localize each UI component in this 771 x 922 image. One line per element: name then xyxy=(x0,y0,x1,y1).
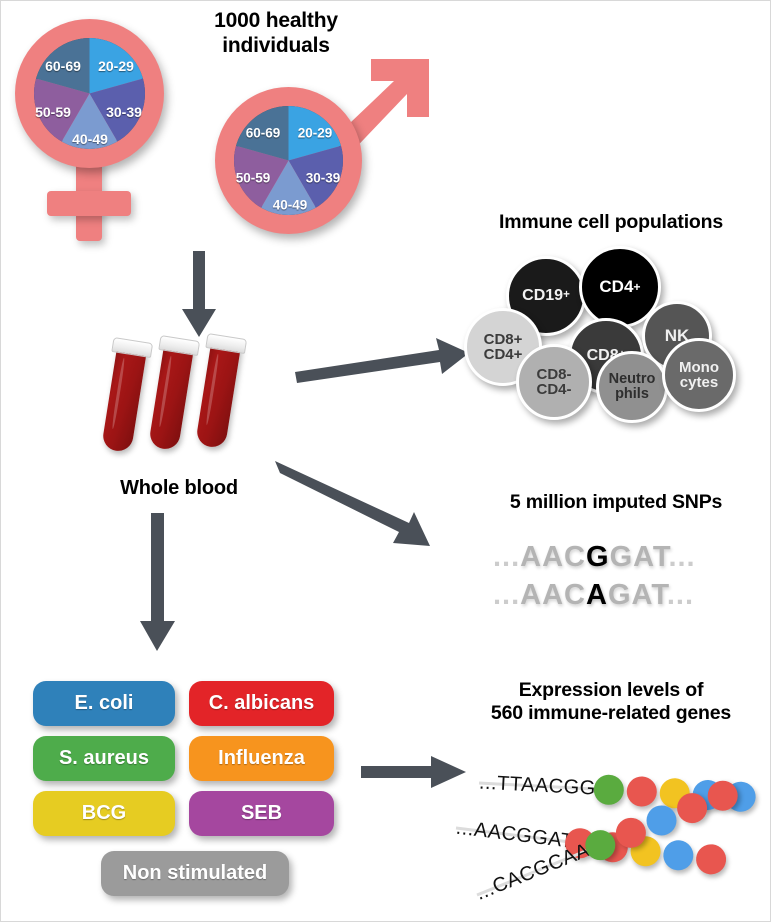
pie-label-40-49: 40-49 xyxy=(273,198,308,213)
immune-cell-sup: + xyxy=(633,281,640,293)
snp-allele: A xyxy=(586,579,608,611)
pie-label-50-59: 50-59 xyxy=(236,171,271,186)
arrow-cohort-to-blood xyxy=(179,251,219,341)
expression-bead xyxy=(593,774,625,806)
arrow-blood-to-snps xyxy=(273,451,453,561)
blood-tube xyxy=(195,343,241,449)
stimulus-s-aureus[interactable]: S. aureus xyxy=(33,736,175,781)
figure-canvas: 1000 healthy individuals 20-29 30-39 40-… xyxy=(0,0,771,922)
snp-right: GAT xyxy=(610,541,669,573)
genotype-title: 5 million imputed SNPs xyxy=(471,491,761,514)
arrow-stimuli-to-expression xyxy=(361,753,471,793)
expression-bead xyxy=(662,839,695,872)
pie-label-50-59: 50-59 xyxy=(35,104,71,120)
expression-bead xyxy=(673,789,712,828)
snp-prefix: ... xyxy=(493,579,520,611)
snp-sequence-row: ...AACGGAT... xyxy=(493,541,696,574)
blood-tubes xyxy=(109,341,299,461)
pie-label-40-49: 40-49 xyxy=(72,131,108,147)
blood-tube xyxy=(148,345,194,451)
stimulus-c-albicans[interactable]: C. albicans xyxy=(189,681,334,726)
expression-bead xyxy=(626,776,658,808)
snp-left: AAC xyxy=(520,579,586,611)
pie-label-60-69: 60-69 xyxy=(45,58,81,74)
expression-bead xyxy=(642,801,681,840)
immune-cell-label: CD19 xyxy=(522,288,563,304)
blood-tube xyxy=(101,347,147,453)
strand-sequence: ...TTAACGG xyxy=(478,772,596,801)
immune-cell-neutrophils: Neutro phils xyxy=(596,351,668,423)
pie-label-30-39: 30-39 xyxy=(306,171,341,186)
stimulus-e-coli[interactable]: E. coli xyxy=(33,681,175,726)
arrow-blood-to-immune xyxy=(293,331,473,381)
female-cross xyxy=(47,191,131,216)
snp-suffix: ... xyxy=(668,541,695,573)
pie-label-30-39: 30-39 xyxy=(106,104,142,120)
immune-cell-cd8neg-cd4neg: CD8- CD4- xyxy=(516,344,592,420)
expression-bead xyxy=(694,843,727,876)
stimulus-bcg[interactable]: BCG xyxy=(33,791,175,836)
stimulus-seb[interactable]: SEB xyxy=(189,791,334,836)
immune-bubble-cluster: CD19+ CD4+ CD8+ CD4+ CD8+ NK CD8- CD4- N… xyxy=(456,246,756,421)
pie-label-60-69: 60-69 xyxy=(246,126,281,141)
snp-left: AAC xyxy=(520,541,586,573)
pie-label-20-29: 20-29 xyxy=(98,58,134,74)
female-symbol: 20-29 30-39 40-49 50-59 60-69 xyxy=(1,11,211,241)
snp-allele: G xyxy=(586,541,610,573)
immune-cell-label: CD4 xyxy=(599,278,633,295)
immune-title: Immune cell populations xyxy=(451,211,771,234)
immune-cell-sup: + xyxy=(563,290,570,302)
stimulus-non-stimulated[interactable]: Non stimulated xyxy=(101,851,289,896)
expression-title: Expression levels of 560 immune-related … xyxy=(456,679,766,725)
snp-sequence-row: ...AACAGAT... xyxy=(493,579,694,612)
pie-label-20-29: 20-29 xyxy=(298,126,333,141)
immune-cell-monocytes: Mono cytes xyxy=(662,338,736,412)
stimulus-influenza[interactable]: Influenza xyxy=(189,736,334,781)
arrow-blood-to-stimuli xyxy=(138,513,178,653)
male-symbol: 20-29 30-39 40-49 50-59 60-69 xyxy=(201,51,431,251)
snp-prefix: ... xyxy=(493,541,520,573)
snp-right: GAT xyxy=(608,579,667,611)
snp-suffix: ... xyxy=(667,579,694,611)
gene-strands: ...TTAACGG ...AACGGAT ...CACGCAA xyxy=(461,736,771,916)
whole-blood-label: Whole blood xyxy=(79,477,279,501)
